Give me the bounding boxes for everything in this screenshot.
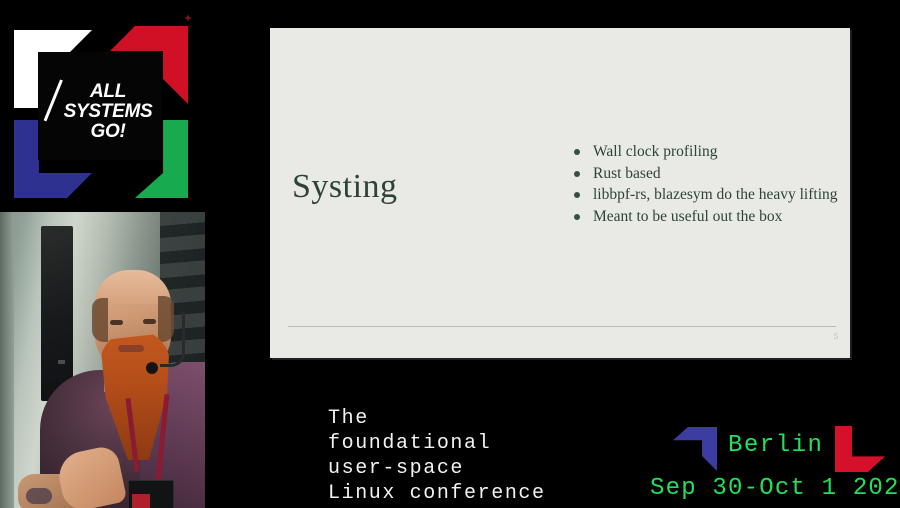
speaker-camera-feed bbox=[0, 212, 205, 508]
list-item: Rust based bbox=[568, 164, 838, 184]
camera-loudspeaker-label bbox=[58, 360, 65, 364]
bracket-red-icon bbox=[835, 426, 885, 472]
headset-microphone-icon bbox=[146, 362, 158, 374]
event-dates: Sep 30-Oct 1 2025 bbox=[650, 474, 900, 504]
broadcast-stage: ALL SYSTEMS GO! Systing Wall bbox=[0, 0, 900, 508]
slide-divider bbox=[288, 326, 836, 327]
bracket-blue-icon bbox=[673, 427, 717, 471]
speaker-eye-left bbox=[110, 320, 123, 325]
speaker-tattoo bbox=[26, 488, 52, 504]
speaker-badge-accent bbox=[132, 494, 150, 508]
list-item: Wall clock profiling bbox=[568, 142, 838, 162]
event-city: Berlin bbox=[728, 431, 823, 461]
slide-title: Systing bbox=[292, 168, 398, 206]
slide-content: Systing Wall clock profiling Rust based … bbox=[270, 28, 850, 358]
speaker-mouth bbox=[118, 345, 144, 352]
list-item: Meant to be useful out the box bbox=[568, 207, 838, 227]
camera-background-column bbox=[0, 212, 14, 508]
presentation-slide: Systing Wall clock profiling Rust based … bbox=[270, 28, 850, 358]
list-item: libbpf-rs, blazesym do the heavy lifting bbox=[568, 185, 838, 205]
conference-logo: ALL SYSTEMS GO! bbox=[0, 0, 200, 212]
camera-background-loudspeaker bbox=[41, 226, 73, 401]
event-location-row: Berlin bbox=[650, 424, 900, 474]
headset-microphone-arm-icon bbox=[160, 312, 185, 367]
logo-spark-icon bbox=[184, 14, 192, 22]
conference-tagline: The foundational user-space Linux confer… bbox=[328, 406, 546, 506]
speaker-eye-right bbox=[143, 319, 156, 324]
slide-bullet-list: Wall clock profiling Rust based libbpf-r… bbox=[568, 142, 838, 228]
speaker-hair-left bbox=[92, 298, 108, 342]
logo-wordmark: ALL SYSTEMS GO! bbox=[56, 82, 160, 142]
slide-page-number: 5 bbox=[834, 332, 838, 342]
